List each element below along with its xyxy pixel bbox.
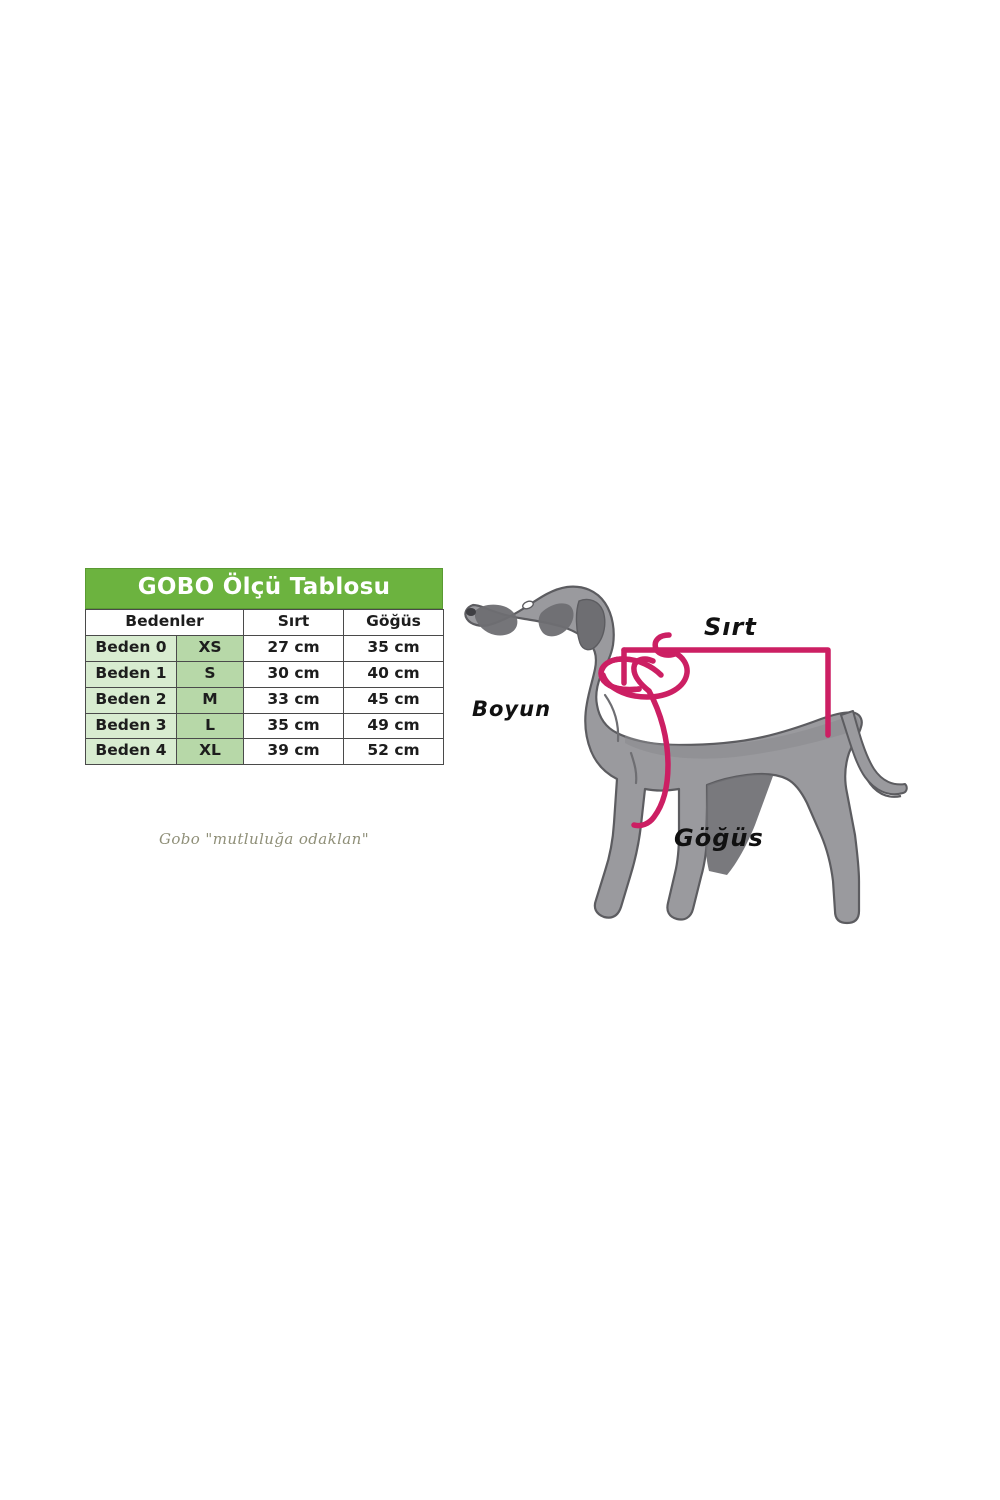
cell-beden: Beden 1 <box>86 661 177 687</box>
size-chart-table: GOBO Ölçü Tablosu Bedenler Sırt Göğüs Be… <box>85 568 443 765</box>
table-row: Beden 4 XL 39 cm 52 cm <box>86 739 444 765</box>
dog-nose <box>466 608 476 616</box>
cell-gogus: 49 cm <box>344 713 444 739</box>
cell-gogus: 52 cm <box>344 739 444 765</box>
dog-body-group <box>465 587 906 923</box>
dog-illustration <box>455 575 925 945</box>
label-gogus: Göğüs <box>674 824 764 852</box>
table-header-row: Bedenler Sırt Göğüs <box>86 610 444 636</box>
brand-tagline: Gobo "mutluluğa odaklan" <box>85 830 443 848</box>
column-header-bedenler: Bedenler <box>86 610 244 636</box>
table-row: Beden 2 M 33 cm 45 cm <box>86 687 444 713</box>
size-chart-title: GOBO Ölçü Tablosu <box>85 568 443 609</box>
table-row: Beden 0 XS 27 cm 35 cm <box>86 636 444 662</box>
cell-sirt: 35 cm <box>244 713 344 739</box>
cell-beden: Beden 0 <box>86 636 177 662</box>
cell-letter: XL <box>177 739 244 765</box>
dog-measurement-diagram <box>455 575 925 945</box>
cell-beden: Beden 4 <box>86 739 177 765</box>
page-canvas: GOBO Ölçü Tablosu Bedenler Sırt Göğüs Be… <box>0 0 1000 1500</box>
cell-sirt: 30 cm <box>244 661 344 687</box>
cell-beden: Beden 2 <box>86 687 177 713</box>
table-row: Beden 1 S 30 cm 40 cm <box>86 661 444 687</box>
label-sirt: Sırt <box>704 613 757 641</box>
dog-muzzle-shading <box>475 605 517 636</box>
cell-letter: L <box>177 713 244 739</box>
cell-sirt: 27 cm <box>244 636 344 662</box>
cell-gogus: 45 cm <box>344 687 444 713</box>
column-header-gogus: Göğüs <box>344 610 444 636</box>
cell-gogus: 35 cm <box>344 636 444 662</box>
cell-beden: Beden 3 <box>86 713 177 739</box>
dog-tail-fill <box>841 711 907 794</box>
label-boyun: Boyun <box>472 697 551 721</box>
column-header-sirt: Sırt <box>244 610 344 636</box>
sizes-table: Bedenler Sırt Göğüs Beden 0 XS 27 cm 35 … <box>85 609 444 765</box>
cell-sirt: 39 cm <box>244 739 344 765</box>
cell-gogus: 40 cm <box>344 661 444 687</box>
cell-letter: M <box>177 687 244 713</box>
cell-sirt: 33 cm <box>244 687 344 713</box>
cell-letter: XS <box>177 636 244 662</box>
table-row: Beden 3 L 35 cm 49 cm <box>86 713 444 739</box>
cell-letter: S <box>177 661 244 687</box>
